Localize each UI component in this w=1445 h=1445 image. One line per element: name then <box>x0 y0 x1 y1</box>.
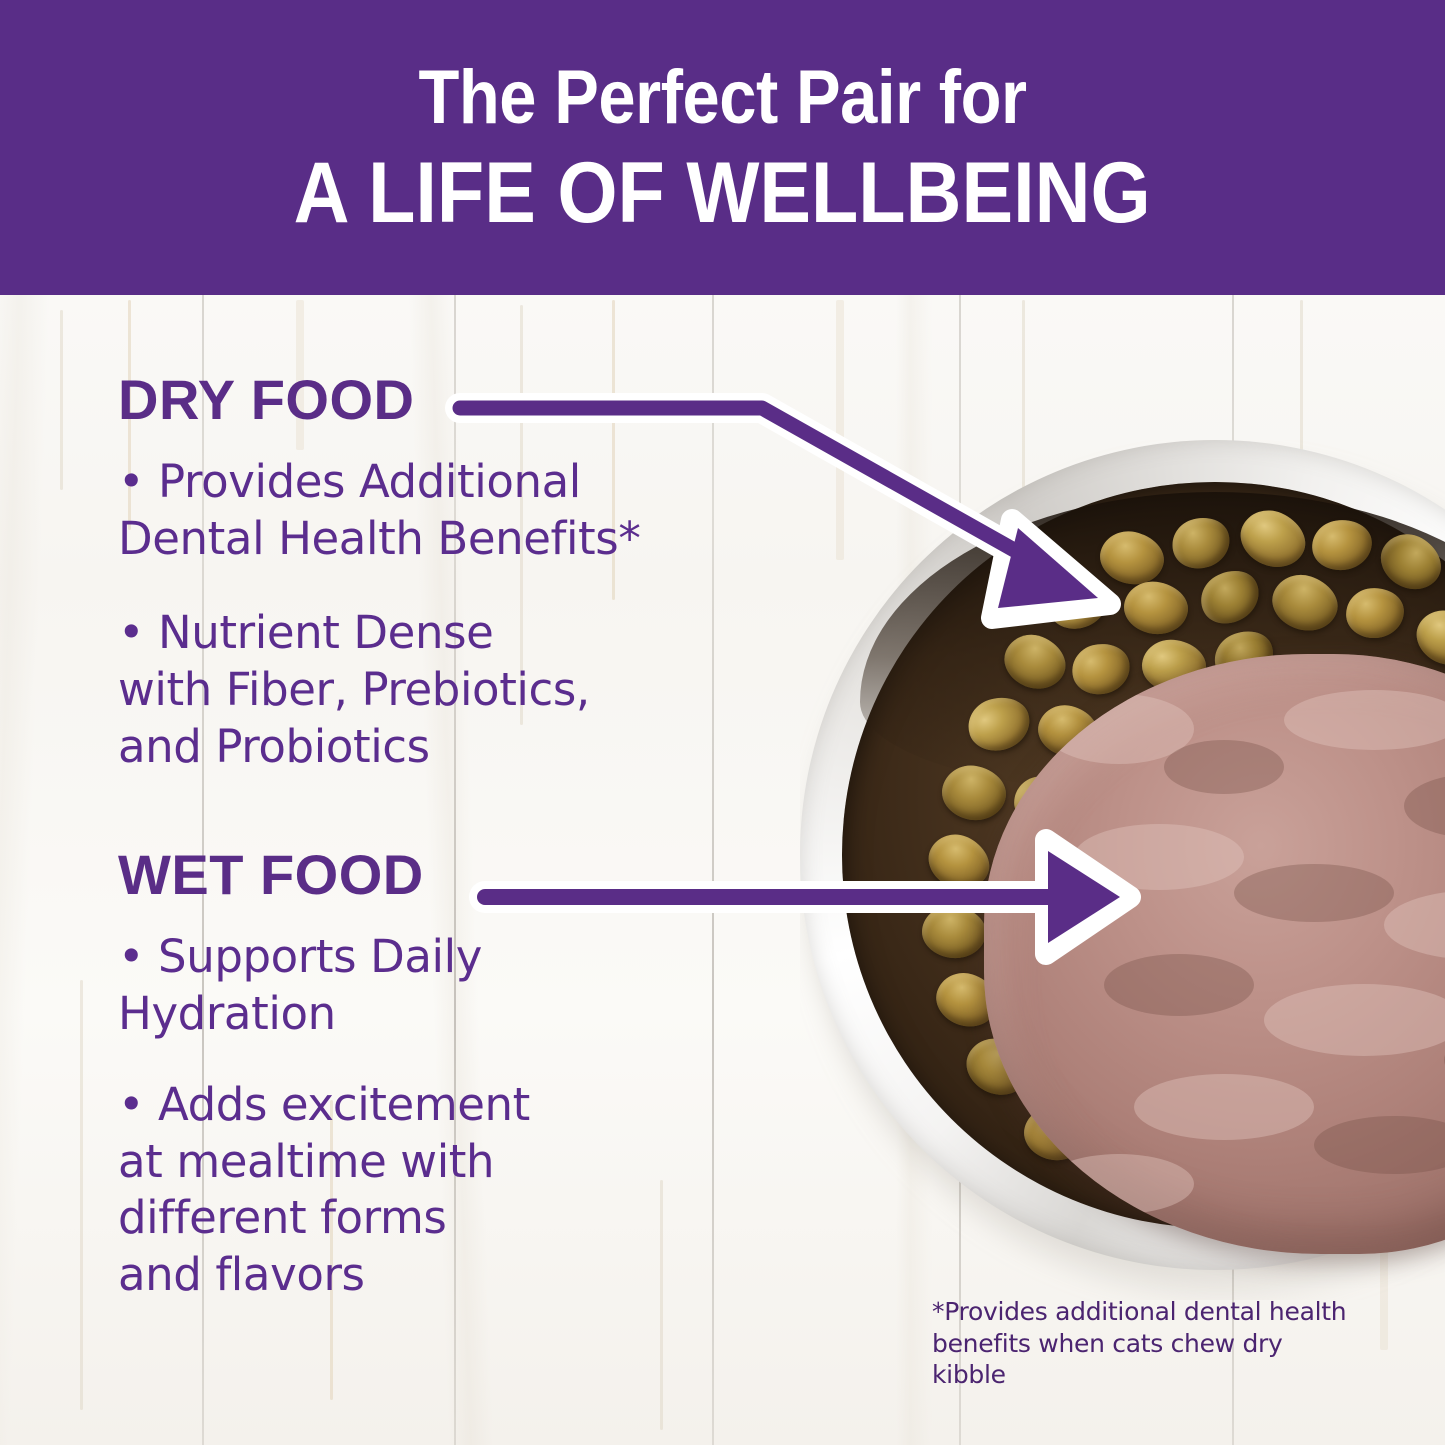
bullet-line: • Nutrient Dense <box>118 605 818 662</box>
bullet-line: with Fiber, Prebiotics, <box>118 662 818 719</box>
headline-line-1: The Perfect Pair for <box>418 60 1026 136</box>
headline-line-2: A LIFE OF WELLBEING <box>294 150 1151 236</box>
footnote-line-2: benefits when cats chew dry kibble <box>932 1328 1352 1391</box>
bullet-line: and flavors <box>118 1247 818 1304</box>
bullet-line: • Adds excitement <box>118 1077 818 1134</box>
section-heading-wet-food: WET FOOD <box>118 847 818 903</box>
bullet-line: at mealtime with <box>118 1134 818 1191</box>
bullet-line: Hydration <box>118 986 818 1043</box>
wood-grain <box>80 980 83 1410</box>
bullet-line: Dental Health Benefits* <box>118 511 818 568</box>
footnote-line-1: *Provides additional dental health <box>932 1296 1352 1328</box>
bullet-dry-2: • Nutrient Dense with Fiber, Prebiotics,… <box>118 605 818 775</box>
cat-food-bowl-photo <box>800 440 1445 1300</box>
bullet-line: different forms <box>118 1190 818 1247</box>
section-heading-dry-food: DRY FOOD <box>118 372 818 428</box>
bullet-line: • Provides Additional <box>118 454 818 511</box>
bullet-line: and Probiotics <box>118 719 818 776</box>
promo-graphic: The Perfect Pair for A LIFE OF WELLBEING… <box>0 0 1445 1445</box>
footnote: *Provides additional dental health benef… <box>932 1296 1352 1391</box>
bullet-dry-1: • Provides Additional Dental Health Bene… <box>118 454 818 567</box>
wood-grain <box>60 310 63 490</box>
bullet-line: • Supports Daily <box>118 929 818 986</box>
header-band: The Perfect Pair for A LIFE OF WELLBEING <box>0 0 1445 295</box>
benefits-copy: DRY FOOD • Provides Additional Dental He… <box>118 372 818 1304</box>
bullet-wet-2: • Adds excitement at mealtime with diffe… <box>118 1077 818 1304</box>
bullet-wet-1: • Supports Daily Hydration <box>118 929 818 1042</box>
